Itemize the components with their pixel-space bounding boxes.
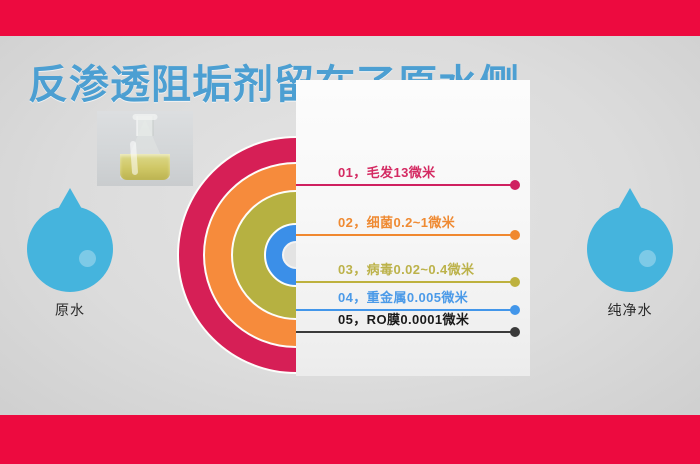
drop-body-shape [27,206,113,292]
callout-dot-ro-membrane [510,327,520,337]
callout-line-virus [296,281,514,283]
callout-dot-virus [510,277,520,287]
drop-body-shape [587,206,673,292]
top-accent-band [0,0,700,36]
raw-water-drop-group: 原水 [10,188,130,320]
callout-dot-heavy-metal [510,305,520,315]
callout-line-hair [296,184,514,186]
callout-label-hair: 01，毛发13微米 [338,162,436,181]
callout-label-ro-membrane: 05，RO膜0.0001微米 [338,309,469,328]
raw-water-label: 原水 [10,300,130,320]
pure-water-drop-group: 纯净水 [570,188,690,320]
callout-label-bacteria: 02，细菌0.2~1微米 [338,212,455,231]
callout-dot-bacteria [510,230,520,240]
callout-label-virus: 03，病毒0.02~0.4微米 [338,259,474,278]
callout-dot-hair [510,180,520,190]
water-drop-icon [587,188,673,292]
pure-water-label: 纯净水 [570,300,690,320]
water-drop-icon [27,188,113,292]
callout-label-heavy-metal: 04，重金属0.005微米 [338,287,468,306]
callout-line-ro-membrane [296,331,514,333]
drop-highlight-shape [79,250,96,267]
infographic-stage: 反渗透阻垢剂留在了原水侧 01，毛发13微米 02，细菌0.2~1微米 03，病… [0,36,700,415]
drop-highlight-shape [639,250,656,267]
callout-line-bacteria [296,234,514,236]
bottom-accent-band [0,415,700,464]
